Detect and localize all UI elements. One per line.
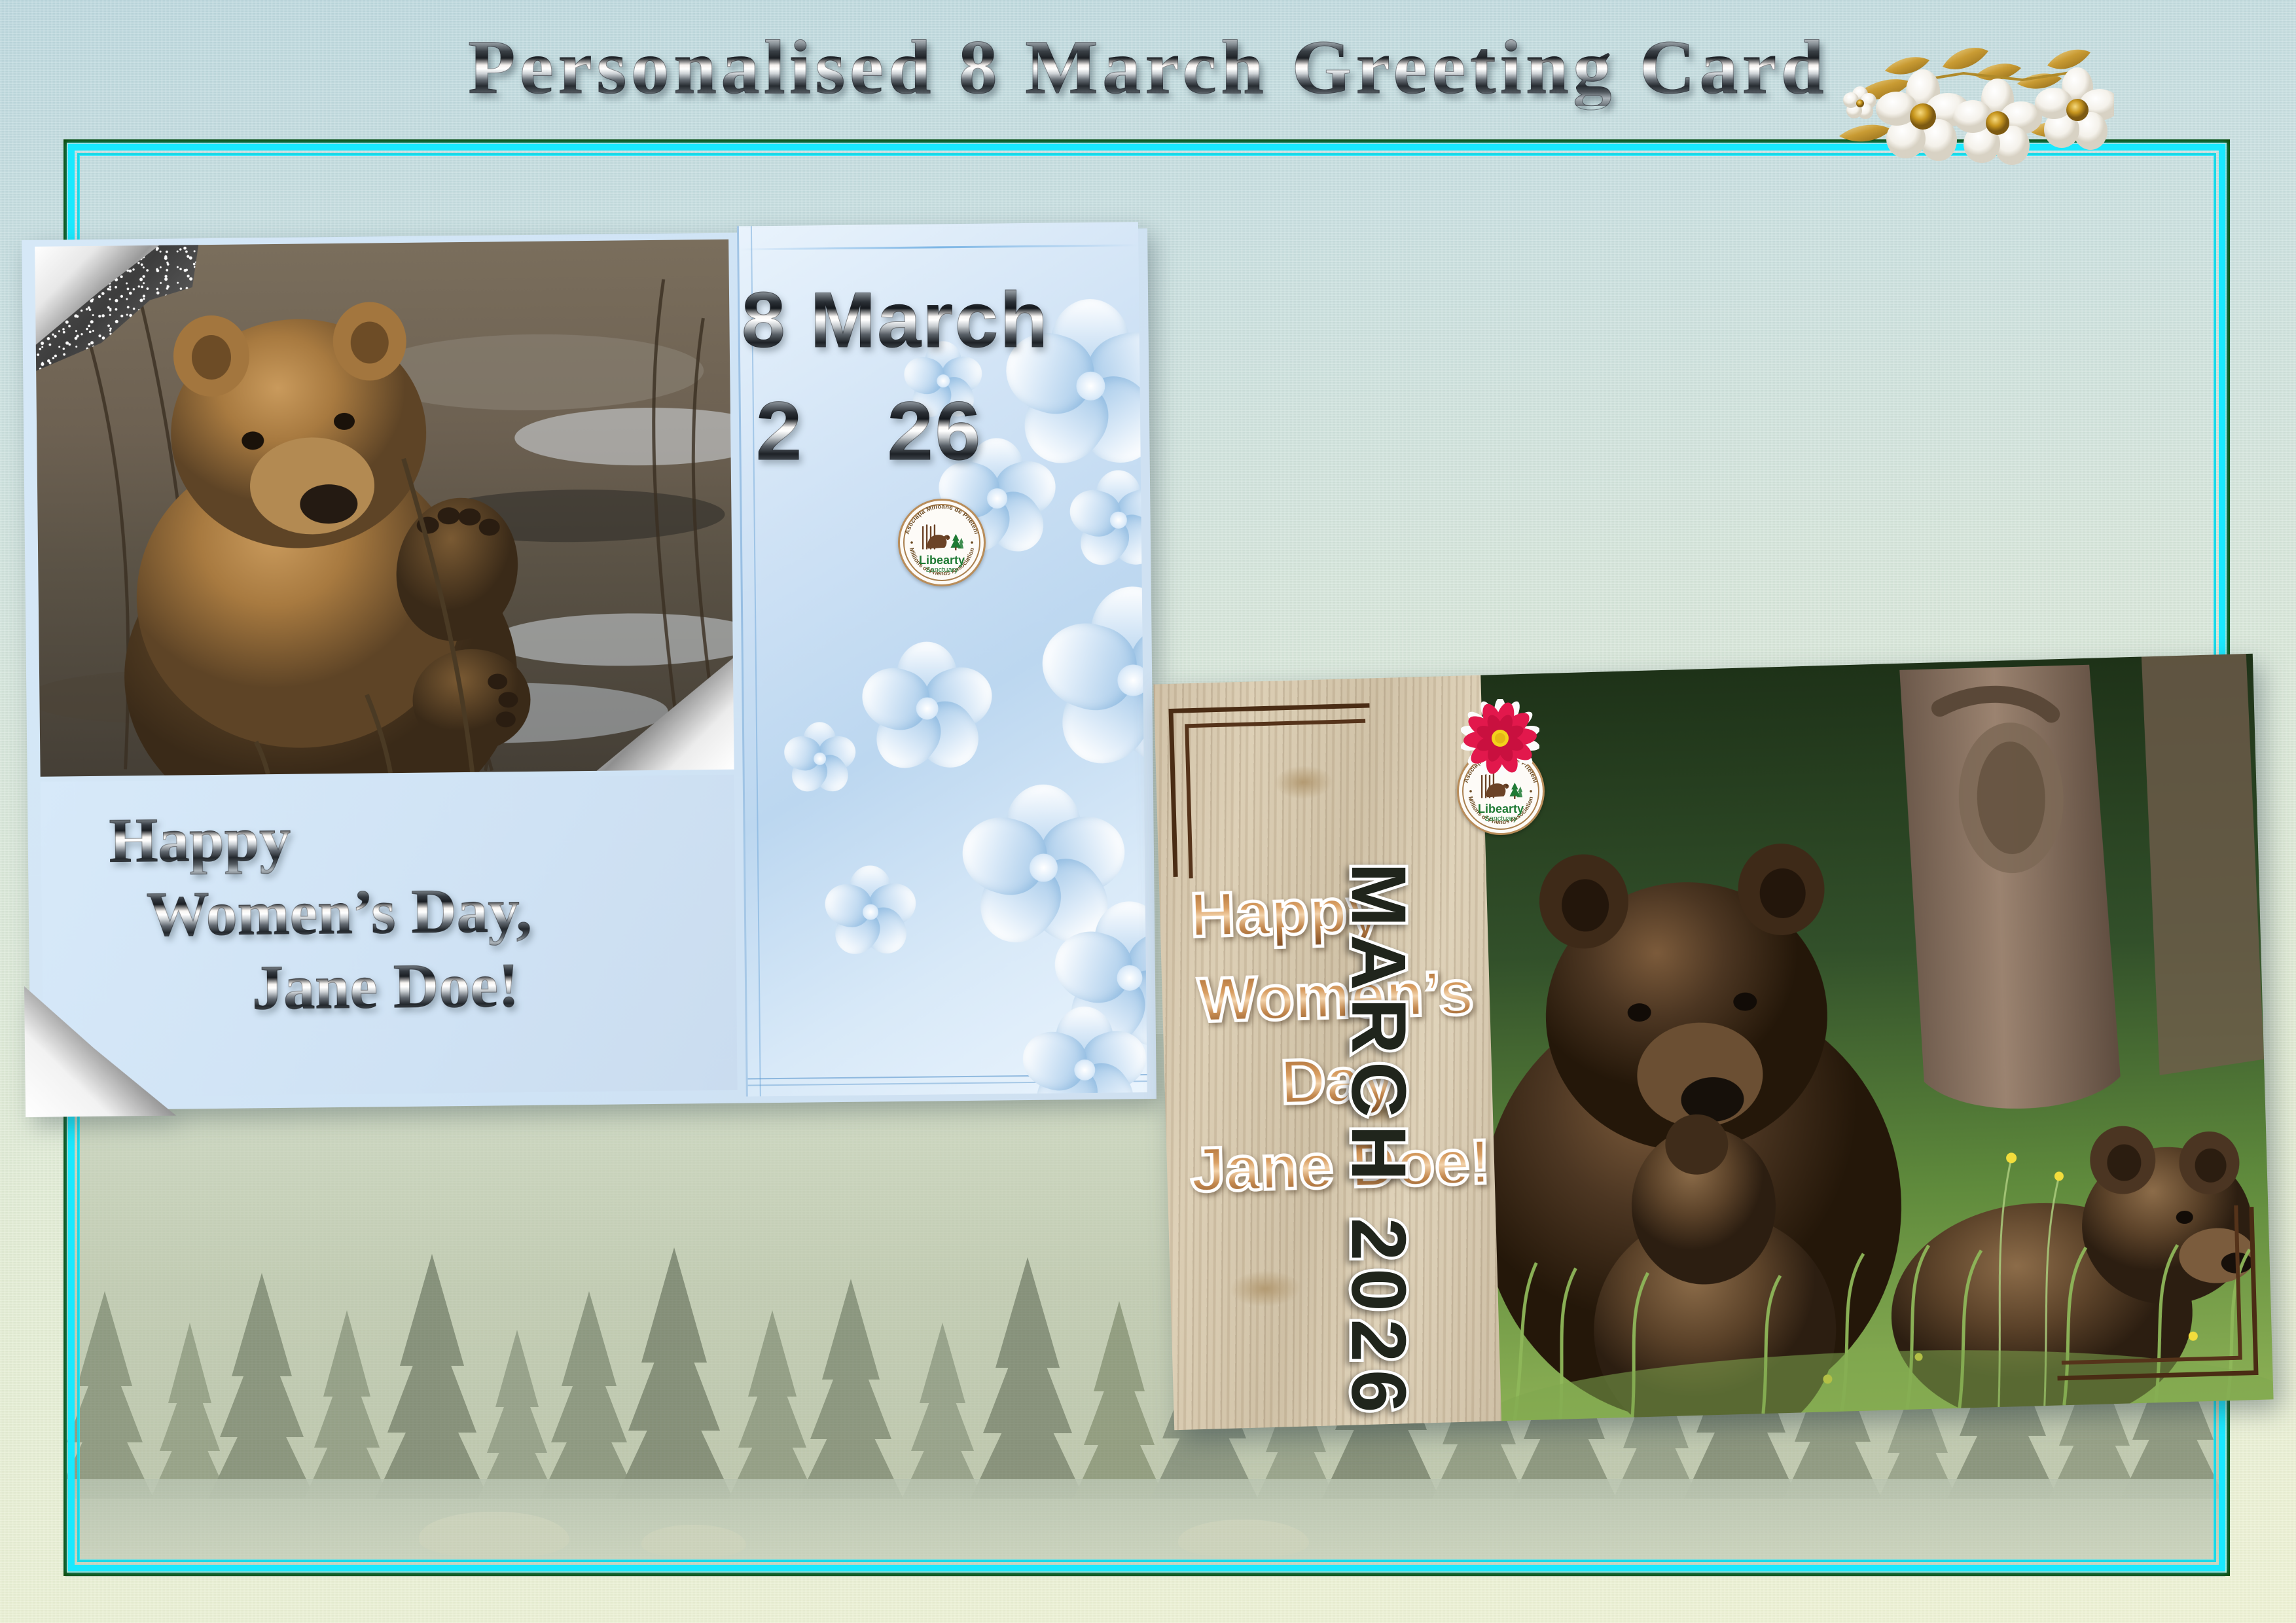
blue-blossom	[1041, 588, 1147, 773]
logo-subtitle: Sanctuary	[900, 566, 984, 574]
corner-bracket-bottom-right-inner	[2057, 1205, 2242, 1365]
bear-cub-photo	[35, 240, 734, 777]
logo-subtitle: Sanctuary	[1459, 815, 1543, 823]
blue-blossom	[824, 866, 916, 958]
vertical-date-label: MARCH 2026	[1334, 863, 1423, 1420]
floral-panel-swoosh	[739, 244, 1138, 250]
libearty-sanctuary-logo: Asociația Milioane de Prieteni Millions …	[898, 499, 986, 586]
blue-blossom-group	[739, 222, 1138, 226]
bear-cub-illustration	[35, 240, 734, 777]
left-message-line-2: Women’s Day,	[41, 872, 700, 953]
date-year-suffix: 26	[888, 385, 982, 477]
left-card-message: Happy Women’s Day, Jane Doe!	[41, 775, 738, 1097]
bear-and-trees-emblem-icon	[920, 524, 964, 552]
left-message-line-1: Happy	[41, 797, 700, 878]
blue-blossom	[861, 643, 994, 775]
left-message-line-3: Jane Doe!	[42, 946, 701, 1027]
backdrop-lake	[65, 1479, 2225, 1577]
wood-knot	[1229, 1270, 1302, 1308]
red-dahlia-flower-icon	[1461, 699, 1539, 777]
blue-blossom	[783, 722, 856, 795]
corner-bracket-top-left-inner	[1185, 719, 1369, 879]
date-line-1: 8 March	[742, 275, 1049, 365]
logo-name: Libearty	[1459, 802, 1543, 816]
date-year-prefix: 2	[756, 385, 804, 477]
right-greeting-card[interactable]: Happy Women’s Day Jane Doe!	[1153, 654, 2273, 1430]
page-title: Personalised 8 March Greeting Card	[468, 29, 1828, 106]
logo-name: Libearty	[900, 554, 984, 567]
header-flower-decoration	[1813, 20, 2114, 170]
backdrop-rock	[641, 1525, 746, 1558]
date-block: 8 March 226	[730, 275, 1116, 537]
date-line-2: 226	[756, 383, 982, 478]
